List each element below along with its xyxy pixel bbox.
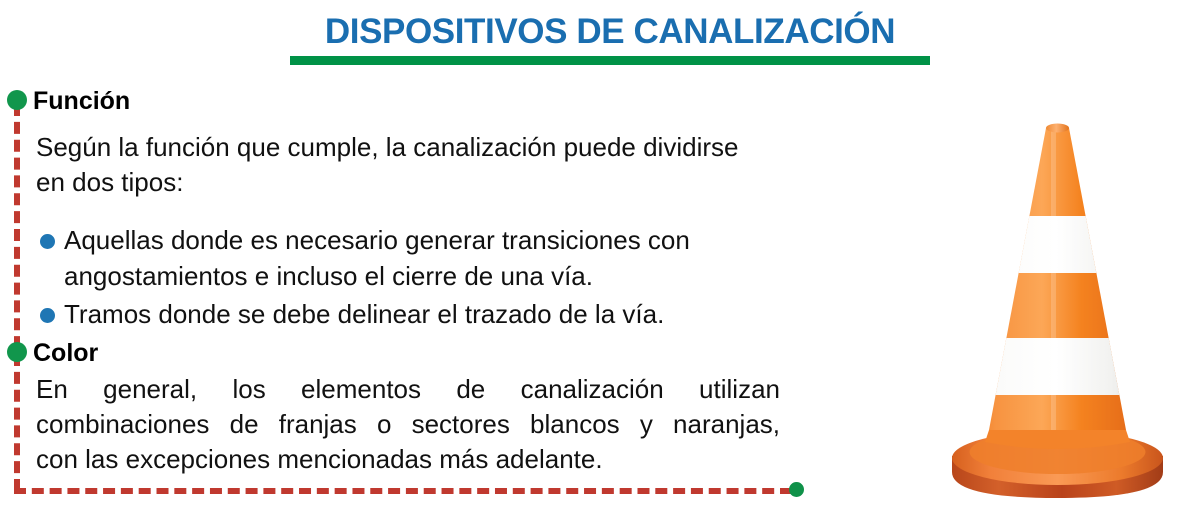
traffic-cone-figure — [930, 100, 1185, 509]
list-item-text: Tramos donde se debe delinear el trazado… — [64, 299, 664, 329]
paragraph-color-line-1: En general, los elementos de canalizació… — [36, 372, 780, 407]
dashed-guide-vertical-line — [14, 104, 20, 491]
blue-bullet-icon — [40, 308, 55, 323]
traffic-cone-icon — [930, 100, 1185, 509]
cone-tip-rim — [1046, 124, 1069, 133]
cone-body — [970, 120, 1150, 440]
paragraph-funcion-intro: Según la función que cumple, la canaliza… — [36, 130, 756, 200]
blue-bullet-icon — [40, 234, 55, 249]
bullet-list-funcion: Aquellas donde es necesario generar tran… — [40, 222, 780, 332]
green-bullet-icon — [7, 342, 27, 362]
cone-stripe-lower — [970, 338, 1150, 395]
title-underline-bar — [290, 56, 930, 65]
list-item: Tramos donde se debe delinear el trazado… — [40, 296, 780, 332]
list-item-text: Aquellas donde es necesario generar tran… — [64, 225, 690, 291]
title-block: DISPOSITIVOS DE CANALIZACIÓN — [290, 12, 930, 65]
paragraph-color-line-3: con las excepciones mencionadas más adel… — [36, 442, 780, 477]
paragraph-color: En general, los elementos de canalizació… — [36, 372, 780, 477]
page-title: DISPOSITIVOS DE CANALIZACIÓN — [290, 12, 930, 52]
guide-end-dot-icon — [789, 482, 804, 497]
list-item: Aquellas donde es necesario generar tran… — [40, 222, 780, 294]
cone-stripe-upper — [970, 216, 1150, 273]
section-title-funcion: Función — [33, 88, 130, 114]
paragraph-color-line-2: combinaciones de franjas o sectores blan… — [36, 407, 780, 442]
section-title-color: Color — [33, 340, 98, 366]
dashed-guide-horizontal-line — [14, 488, 792, 494]
green-bullet-icon — [7, 90, 27, 110]
